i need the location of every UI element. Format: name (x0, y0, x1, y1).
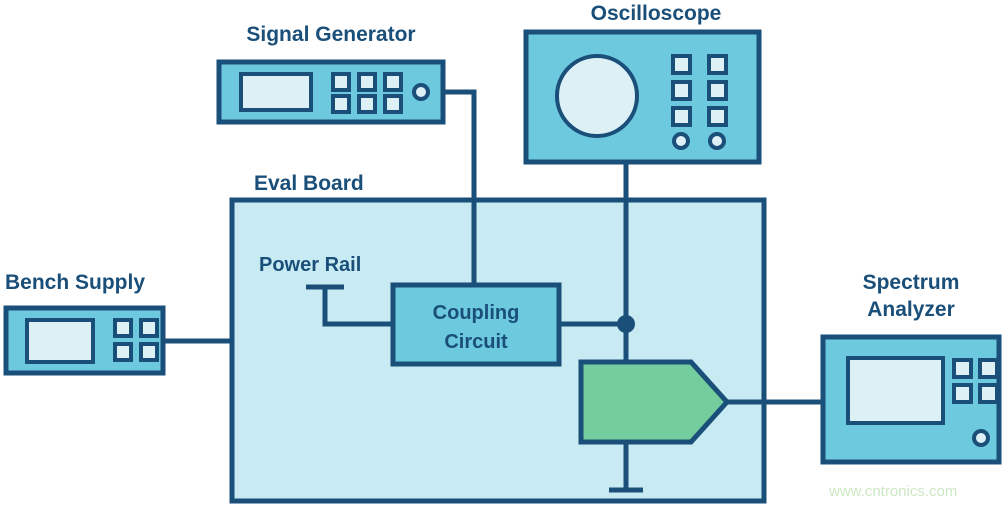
coupling-circuit-label-line1: Coupling (433, 302, 520, 324)
button[interactable] (333, 74, 349, 90)
spectrum-analyzer-port-connector[interactable] (974, 431, 988, 445)
watermark-text: www.cntronics.com (828, 483, 957, 500)
bench-supply-group[interactable]: Bench Supply (5, 271, 163, 373)
button[interactable] (709, 56, 726, 73)
eval-board-label: Eval Board (254, 172, 364, 195)
button[interactable] (673, 82, 690, 99)
block-diagram: Eval Board Power Rail Coupling Circuit (0, 0, 1008, 508)
junction-dot (617, 315, 635, 333)
button[interactable] (709, 82, 726, 99)
coupling-circuit-group[interactable]: Coupling Circuit (393, 285, 559, 364)
button[interactable] (333, 96, 349, 112)
button[interactable] (385, 74, 401, 90)
signal-generator-label: Signal Generator (246, 23, 415, 46)
button[interactable] (359, 96, 375, 112)
oscilloscope-port-connector[interactable] (710, 134, 724, 148)
signal-generator-port-connector[interactable] (414, 85, 428, 99)
oscilloscope-group[interactable]: Oscilloscope (526, 2, 759, 162)
spectrum-analyzer-display-screen (848, 358, 943, 423)
button[interactable] (141, 344, 157, 360)
spectrum-analyzer-label-line2: Analyzer (867, 298, 955, 321)
diagram-canvas: Eval Board Power Rail Coupling Circuit (0, 0, 1008, 508)
button[interactable] (709, 108, 726, 125)
button[interactable] (954, 385, 971, 402)
signal-generator-display-screen (241, 74, 311, 110)
button[interactable] (359, 74, 375, 90)
button[interactable] (141, 320, 157, 336)
bench-supply-label: Bench Supply (5, 271, 145, 294)
button[interactable] (115, 320, 131, 336)
button[interactable] (385, 96, 401, 112)
signal-generator-group[interactable]: Signal Generator (219, 23, 443, 122)
power-rail-label: Power Rail (259, 254, 361, 276)
button[interactable] (673, 56, 690, 73)
oscilloscope-round-crt-screen (557, 56, 637, 136)
button[interactable] (115, 344, 131, 360)
coupling-circuit-label-line2: Circuit (444, 331, 508, 353)
spectrum-analyzer-group[interactable]: Spectrum Analyzer (823, 271, 999, 462)
bench-supply-display-screen (27, 320, 93, 362)
oscilloscope-port-connector[interactable] (674, 134, 688, 148)
button[interactable] (673, 108, 690, 125)
button[interactable] (980, 385, 997, 402)
button[interactable] (954, 360, 971, 377)
button[interactable] (980, 360, 997, 377)
dut-amplifier-body[interactable] (581, 362, 727, 442)
spectrum-analyzer-label-line1: Spectrum (863, 271, 960, 294)
oscilloscope-label: Oscilloscope (591, 2, 722, 25)
dut-amplifier-group[interactable] (581, 362, 727, 442)
